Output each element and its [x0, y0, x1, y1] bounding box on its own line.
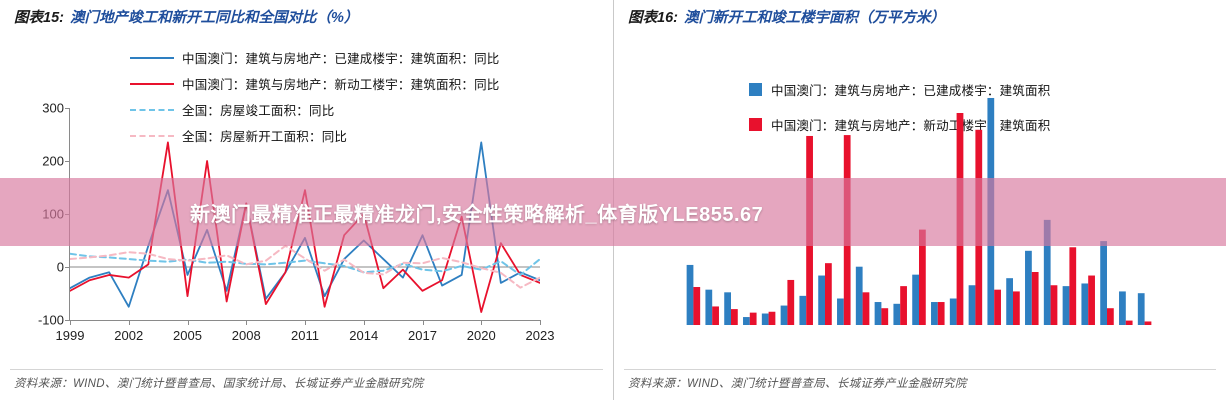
- x-tick: [188, 320, 189, 325]
- left-chart-title-text: 澳门地产竣工和新开工同比和全国对比（%）: [70, 10, 358, 26]
- legend-line-blue-solid-icon: [130, 57, 174, 59]
- figure-pair: 图表15:澳门地产竣工和新开工同比和全国对比（%） 中国澳门：建筑与房地产：已建…: [0, 0, 1226, 400]
- right-chart-title: 图表16:澳门新开工和竣工楼宇面积（万平方米）: [628, 6, 945, 27]
- x-tick-label: 2020: [467, 328, 496, 343]
- y-tick-label: 200: [24, 154, 64, 169]
- x-tick: [423, 320, 424, 325]
- right-chart-title-label: 图表16:: [628, 10, 678, 26]
- x-tick: [540, 320, 541, 325]
- y-tick-label: 300: [24, 101, 64, 116]
- legend-label: 中国澳门：建筑与房地产：已建成楼宇：建筑面积：同比: [182, 48, 500, 67]
- x-tick-label: 2008: [232, 328, 261, 343]
- right-chart-title-text: 澳门新开工和竣工楼宇面积（万平方米）: [684, 10, 945, 26]
- x-tick: [129, 320, 130, 325]
- overlay-banner: 新澳门最精准正最精准龙门,安全性策略解析_体育版YLE855.67: [0, 178, 1226, 246]
- right-source-note: 资料来源：WIND、澳门统计暨普查局、长城证券产业金融研究院: [628, 375, 967, 391]
- x-tick-label: 2011: [291, 328, 319, 343]
- legend-label: 中国澳门：建筑与房地产：新动工楼宇：建筑面积：同比: [182, 74, 500, 93]
- x-tick: [364, 320, 365, 325]
- x-tick-label: 2014: [349, 328, 378, 343]
- x-tick: [246, 320, 247, 325]
- x-tick: [305, 320, 306, 325]
- legend-item: 中国澳门：建筑与房地产：新动工楼宇：建筑面积：同比: [130, 74, 500, 93]
- x-tick: [70, 320, 71, 325]
- left-source-note: 资料来源：WIND、澳门统计暨普查局、国家统计局、长城证券产业金融研究院: [14, 375, 423, 391]
- legend-item: 中国澳门：建筑与房地产：已建成楼宇：建筑面积：同比: [130, 48, 500, 67]
- y-tick-label: 0: [24, 260, 64, 275]
- left-chart-title: 图表15:澳门地产竣工和新开工同比和全国对比（%）: [14, 6, 358, 27]
- x-tick-label: 2002: [114, 328, 143, 343]
- x-tick: [481, 320, 482, 325]
- x-tick-label: 2017: [408, 328, 437, 343]
- y-tick-label: -100: [24, 313, 64, 328]
- x-tick-label: 1999: [56, 328, 85, 343]
- legend-line-red-solid-icon: [130, 83, 174, 85]
- x-tick-label: 2005: [173, 328, 202, 343]
- x-tick-label: 2023: [526, 328, 555, 343]
- left-chart-title-label: 图表15:: [14, 10, 64, 26]
- left-divider: [10, 369, 603, 370]
- right-divider: [624, 369, 1216, 370]
- overlay-banner-text: 新澳门最精准正最精准龙门,安全性策略解析_体育版YLE855.67: [190, 198, 763, 227]
